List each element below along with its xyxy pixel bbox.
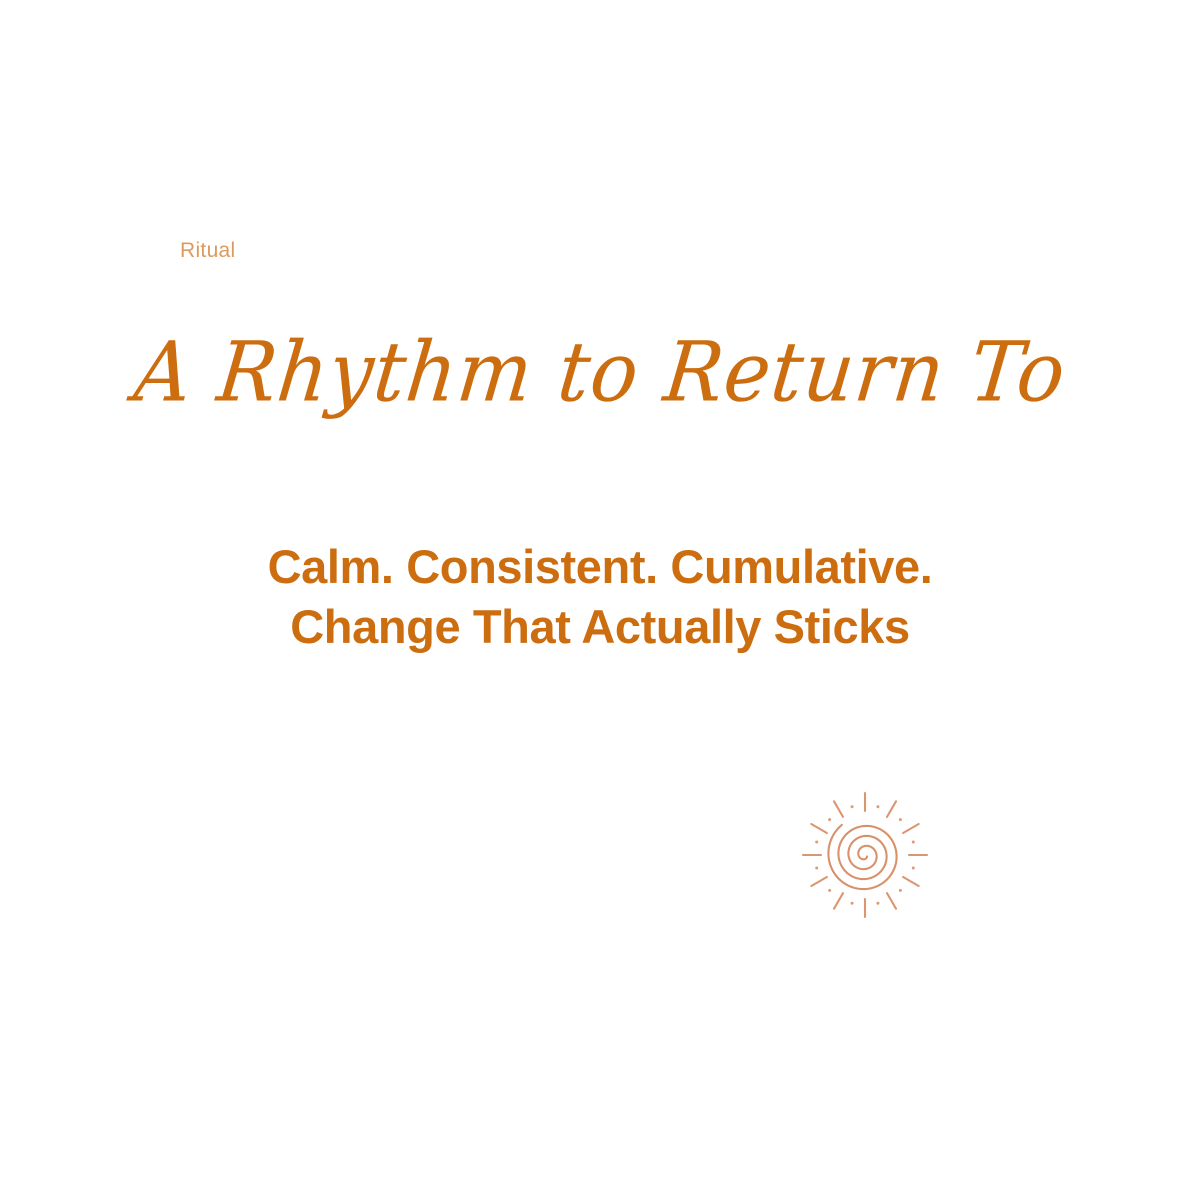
subhead-line-2: Change That Actually Sticks <box>230 597 970 657</box>
page-title: A Rhythm to Return To <box>130 327 1070 420</box>
subhead-line-1: Calm. Consistent. Cumulative. <box>230 537 970 597</box>
subhead-container: Calm. Consistent. Cumulative. Change Tha… <box>0 537 1200 657</box>
spiral-sun-graphic <box>795 785 935 925</box>
poster-canvas: Ritual A Rhythm to Return To Calm. Consi… <box>0 0 1200 1200</box>
spiral-sun-icon <box>795 785 935 925</box>
headline-container: A Rhythm to Return To <box>0 330 1200 417</box>
eyebrow-label: Ritual <box>180 238 236 263</box>
subhead: Calm. Consistent. Cumulative. Change Tha… <box>230 537 970 657</box>
